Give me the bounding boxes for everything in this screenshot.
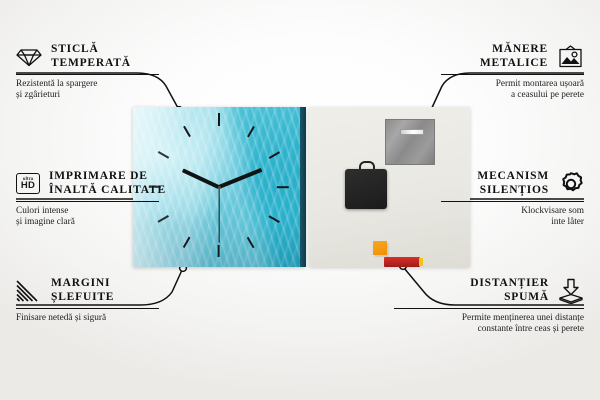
- feature-sub-line2: constante între ceas și perete: [478, 324, 584, 334]
- feature-header: MARGINI ȘLEFUITE: [16, 277, 216, 304]
- clock-minute-hand: [218, 168, 262, 189]
- feature-sub-line1: Klockvisare som: [521, 206, 584, 216]
- clock-tick: [158, 151, 169, 158]
- feature-sub-line1: Permit montarea ușoară: [496, 79, 584, 89]
- feature-metal-handles: MĂNERE METALICE Permit montarea ușoară a…: [384, 43, 584, 102]
- feature-header: MECANISM SILENȚIOS: [384, 170, 584, 197]
- feature-title: IMPRIMARE DE ÎNALTĂ CALITATE: [49, 170, 166, 197]
- clock-tick: [218, 245, 220, 257]
- feature-divider: [16, 201, 159, 202]
- feature-title-line1: MARGINI: [51, 277, 110, 289]
- clock-tick: [247, 126, 254, 137]
- diamond-icon: [16, 47, 42, 67]
- feature-subtitle: Rezistentă la spargere și zgârieturi: [16, 79, 216, 102]
- feature-title-line2: SILENȚIOS: [480, 184, 549, 196]
- feature-sub-line1: Culori intense: [16, 206, 68, 216]
- feature-divider: [441, 201, 584, 202]
- feature-title: MĂNERE METALICE: [480, 43, 548, 70]
- feature-title: MARGINI ȘLEFUITE: [51, 277, 114, 304]
- aa-battery: [384, 257, 420, 267]
- feature-subtitle: Permite menținerea unei distanțe constan…: [384, 313, 584, 336]
- feature-sub-line1: Rezistentă la spargere: [16, 79, 97, 89]
- feature-title-line2: ȘLEFUITE: [51, 291, 114, 303]
- clock-tick: [269, 215, 280, 222]
- clock-center-pivot: [218, 186, 221, 189]
- feature-foam-spacer: DISTANȚIER SPUMĂ Permite menținerea unei…: [384, 277, 584, 336]
- feature-header: DISTANȚIER SPUMĂ: [384, 277, 584, 304]
- clock-tick: [183, 237, 190, 248]
- feature-divider: [394, 308, 584, 309]
- quartz-movement: [345, 169, 387, 209]
- infographic-stage: STICLĂ TEMPERATĂ Rezistentă la spargere …: [0, 0, 600, 400]
- ultra-hd-big-text: HD: [21, 181, 35, 191]
- feature-subtitle: Klockvisare som inte låter: [384, 206, 584, 229]
- clock-tick: [269, 151, 280, 158]
- feature-silent-mechanism: MECANISM SILENȚIOS Klockvisare som inte …: [384, 170, 584, 229]
- feature-high-quality-print: ultra HD IMPRIMARE DE ÎNALTĂ CALITATE Cu…: [16, 170, 216, 229]
- feature-header: ultra HD IMPRIMARE DE ÎNALTĂ CALITATE: [16, 170, 216, 197]
- feature-sub-line1: Finisare netedă și sigură: [16, 313, 106, 323]
- clock-tick: [247, 237, 254, 248]
- feature-title-line1: MECANISM: [477, 170, 549, 182]
- feature-title-line2: METALICE: [480, 57, 548, 69]
- clock-tick: [183, 126, 190, 137]
- feature-subtitle: Finisare netedă și sigură: [16, 313, 216, 324]
- clock-tick: [277, 186, 289, 188]
- feature-sub-line2: inte låter: [551, 217, 584, 227]
- hatched-edge-icon: [16, 280, 42, 302]
- foam-spacer-pad: [373, 241, 387, 255]
- clock-second-hand: [218, 187, 219, 243]
- hanger-slot: [400, 129, 424, 135]
- metal-hanger-plate: [385, 119, 435, 165]
- feature-sub-line2: și zgârieturi: [16, 90, 60, 100]
- feature-sub-line2: și imagine clară: [16, 217, 75, 227]
- feature-title: STICLĂ TEMPERATĂ: [51, 43, 131, 70]
- feature-title-line1: STICLĂ: [51, 43, 99, 55]
- feature-sub-line2: a ceasului pe perete: [511, 90, 584, 100]
- feature-divider: [441, 74, 584, 75]
- feature-polished-edges: MARGINI ȘLEFUITE Finisare netedă și sigu…: [16, 277, 216, 324]
- feature-title: DISTANȚIER SPUMĂ: [470, 277, 549, 304]
- feature-title-line2: TEMPERATĂ: [51, 57, 131, 69]
- feature-subtitle: Permit montarea ușoară a ceasului pe per…: [384, 79, 584, 102]
- feature-title: MECANISM SILENȚIOS: [477, 170, 549, 197]
- feature-sub-line1: Permite menținerea unei distanțe: [462, 313, 584, 323]
- picture-frame-icon: [557, 45, 584, 69]
- feature-title-line1: MĂNERE: [492, 43, 548, 55]
- ultra-hd-icon: ultra HD: [16, 173, 40, 194]
- feature-title-line1: IMPRIMARE DE: [49, 170, 148, 182]
- feature-divider: [16, 308, 159, 309]
- feature-subtitle: Culori intense și imagine clară: [16, 206, 216, 229]
- feature-divider: [16, 74, 159, 75]
- glass-edge: [300, 107, 306, 267]
- feature-title-line2: ÎNALTĂ CALITATE: [49, 184, 166, 196]
- feature-tempered-glass: STICLĂ TEMPERATĂ Rezistentă la spargere …: [16, 43, 216, 102]
- feature-title-line2: SPUMĂ: [504, 291, 549, 303]
- clock-tick: [218, 113, 220, 126]
- feature-header: MĂNERE METALICE: [384, 43, 584, 70]
- gear-icon: [558, 171, 584, 197]
- feature-title-line1: DISTANȚIER: [470, 277, 549, 289]
- press-down-arrow-icon: [558, 278, 584, 304]
- feature-header: STICLĂ TEMPERATĂ: [16, 43, 216, 70]
